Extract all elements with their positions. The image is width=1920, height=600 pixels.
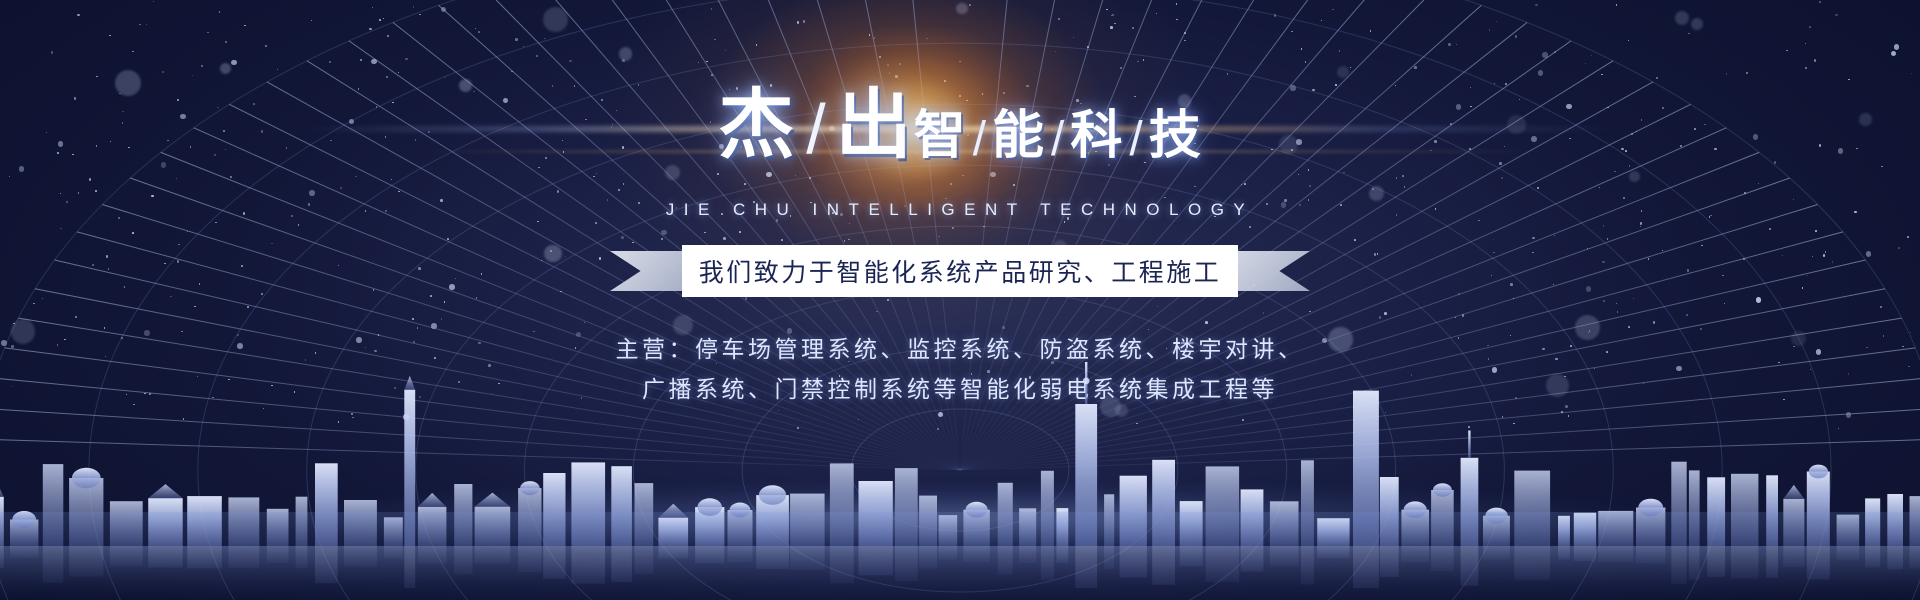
title-separator-3: / bbox=[1051, 116, 1064, 164]
title-separator-1: / bbox=[806, 94, 825, 164]
title-separator-4: / bbox=[1129, 116, 1142, 164]
title-separator-2: / bbox=[973, 116, 986, 164]
english-subtitle: JIE CHU INTELLIGENT TECHNOLOGY bbox=[0, 200, 1920, 220]
title-char-3: 智 bbox=[914, 109, 967, 164]
ribbon-body: 我们致力于智能化系统产品研究、工程施工 bbox=[682, 245, 1238, 297]
hero-banner: 杰 / 出 智 / 能 / 科 / 技 JIE CHU INTELLIGENT … bbox=[0, 0, 1920, 600]
water-reflection bbox=[0, 512, 1920, 600]
ribbon-banner: 我们致力于智能化系统产品研究、工程施工 bbox=[610, 245, 1310, 297]
title-char-6: 技 bbox=[1149, 109, 1202, 164]
title-char-2: 出 bbox=[836, 88, 914, 164]
title-char-1: 杰 bbox=[718, 88, 796, 164]
main-title: 杰 / 出 智 / 能 / 科 / 技 bbox=[0, 88, 1920, 164]
title-char-5: 科 bbox=[1070, 109, 1123, 164]
title-char-4: 能 bbox=[992, 109, 1045, 164]
ribbon-text: 我们致力于智能化系统产品研究、工程施工 bbox=[699, 253, 1222, 289]
